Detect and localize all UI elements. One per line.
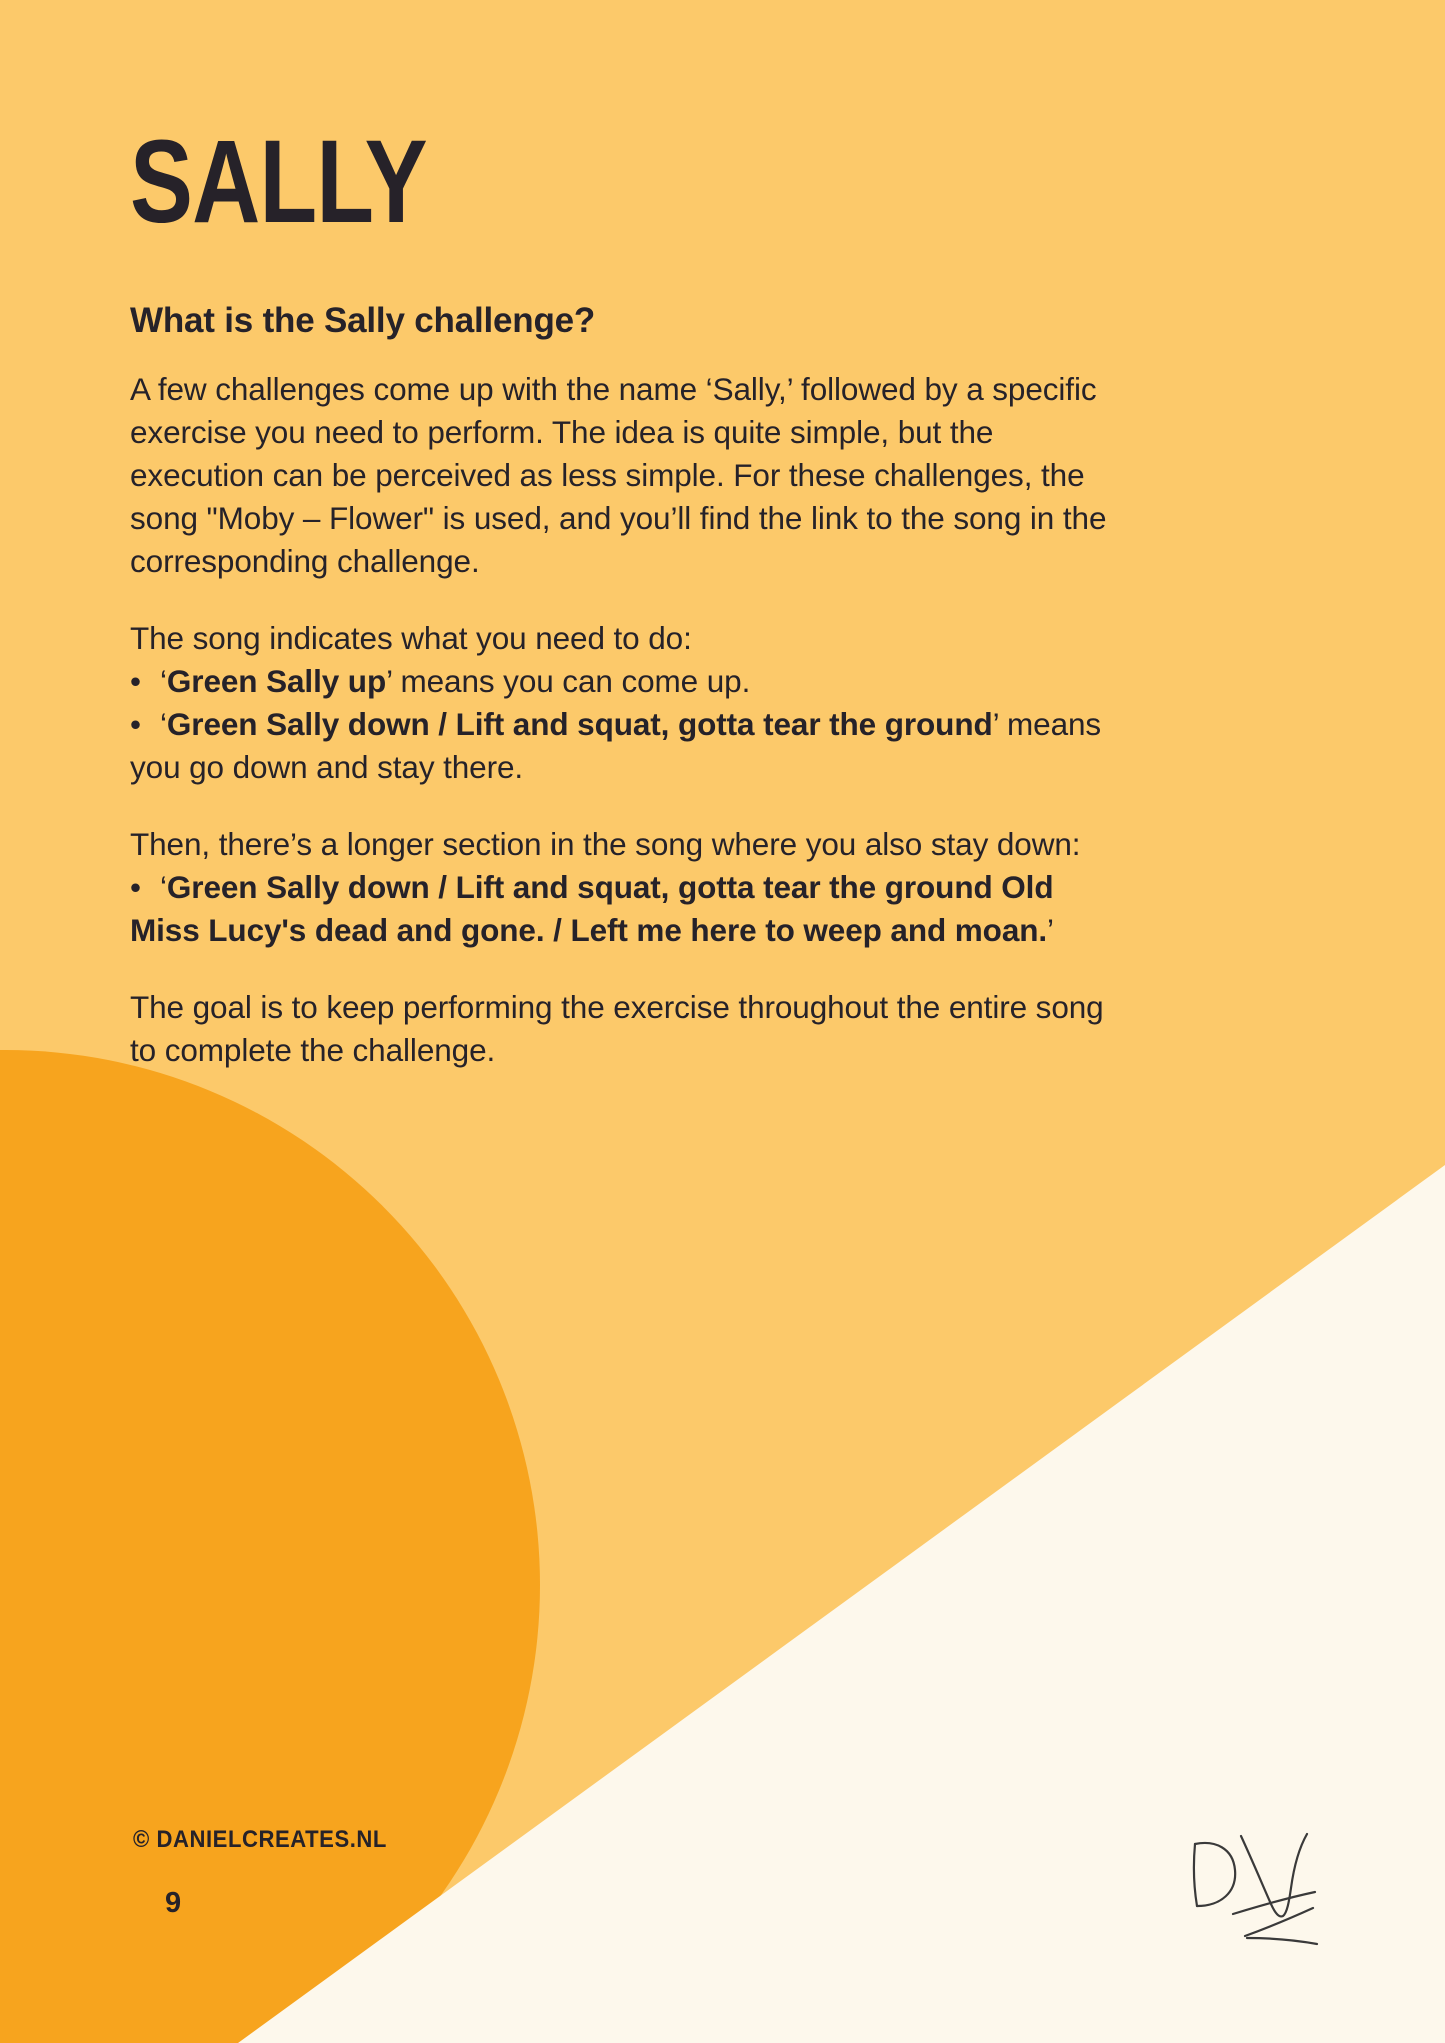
bullet-2-quote-open: ‘ [160, 706, 167, 742]
signature-dv-icon [1175, 1818, 1365, 1958]
paragraph-goal: The goal is to keep performing the exerc… [130, 952, 1130, 1072]
page-title: SALLY [130, 0, 1078, 237]
bullet-glyph-3: • [130, 866, 160, 909]
paragraph-longer-section: Then, there’s a longer section in the so… [130, 789, 1130, 952]
bullet-1-quote-open: ‘ [160, 663, 167, 699]
song-indicates-text: The song indicates what you need to do: [130, 620, 692, 656]
section-heading: What is the Sally challenge? [130, 237, 1315, 343]
page-number: 9 [165, 1887, 181, 1920]
bullet-2-quote-close: ’ [993, 706, 999, 742]
orange-circle-decoration [0, 1050, 540, 2043]
bullet-3-quote-open: ‘ [160, 869, 167, 905]
longer-section-text: Then, there’s a longer section in the so… [130, 826, 1080, 862]
page-content: SALLY What is the Sally challenge? A few… [0, 0, 1445, 1072]
copyright-text: © DANIELCREATES.NL [133, 1826, 387, 1854]
paragraph-song-indicates: The song indicates what you need to do: … [130, 583, 1130, 789]
bullet-glyph-2: • [130, 703, 160, 746]
bullet-3-quote-close: ’ [1047, 912, 1054, 948]
page-canvas: SALLY What is the Sally challenge? A few… [0, 0, 1445, 2043]
bullet-3-lyric: Green Sally down / Lift and squat, gotta… [130, 869, 1053, 948]
bullet-1-tail: ’ means you can come up. [386, 663, 750, 699]
bullet-2-lyric: Green Sally down / Lift and squat, gotta… [167, 706, 993, 742]
bullet-glyph-1: • [130, 660, 160, 703]
paragraph-intro: A few challenges come up with the name ‘… [130, 342, 1130, 583]
bullet-1-lyric: Green Sally up [167, 663, 386, 699]
